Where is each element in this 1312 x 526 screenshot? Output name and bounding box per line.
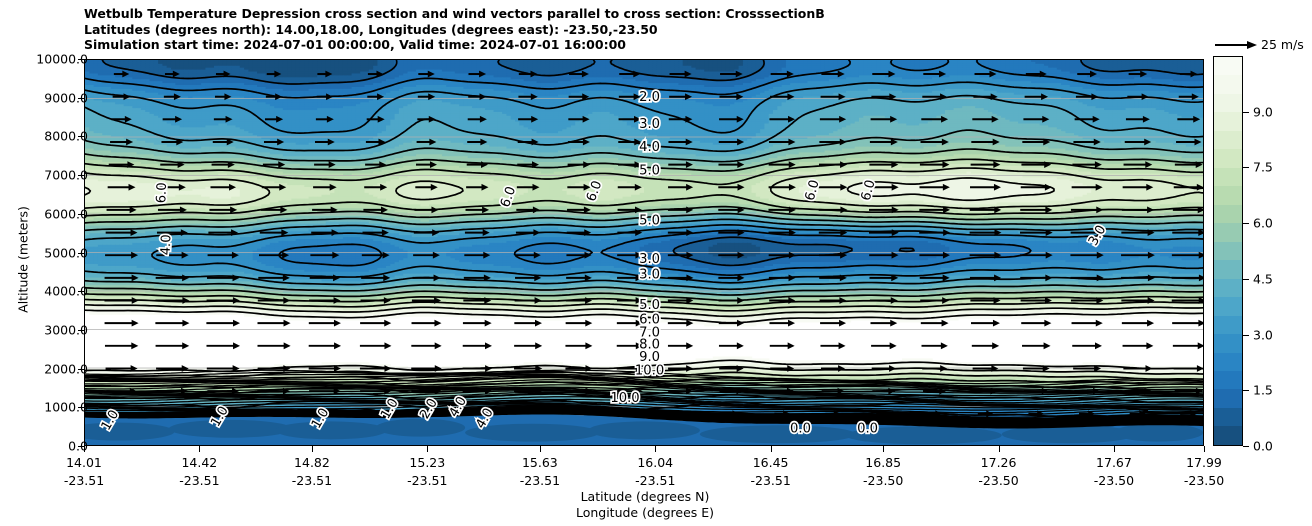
colorbar-band: [1214, 260, 1242, 278]
colorbar-band: [1214, 168, 1242, 186]
colorbar-band: [1214, 389, 1242, 407]
colorbar-tick-mark: [1243, 112, 1249, 113]
y-tick-mark: [78, 291, 84, 292]
contour-label: 5.0: [639, 163, 660, 178]
y-tick-mark: [78, 253, 84, 254]
wind-arrow-icon: [1213, 38, 1259, 52]
y-tick-mark: [78, 98, 84, 99]
colorbar-tick-label: 1.5: [1253, 383, 1273, 398]
colorbar-tick-mark: [1243, 223, 1249, 224]
contour-label: 10.0: [635, 363, 664, 378]
x-tick-label-latitude: 17.99: [1186, 455, 1222, 470]
colorbar-band: [1214, 223, 1242, 241]
contour-label: 3.0: [639, 117, 660, 132]
wind-key-label: 25 m/s: [1261, 37, 1304, 52]
x-tick-label-latitude: 14.42: [181, 455, 217, 470]
x-tick-mark: [771, 446, 772, 452]
y-axis-label: Altitude (meters): [16, 175, 31, 345]
y-tick-mark: [78, 330, 84, 331]
colorbar-gradient: [1213, 56, 1243, 446]
colorbar-band: [1214, 242, 1242, 260]
colorbar-tick-label: 6.0: [1253, 216, 1273, 231]
colorbar-tick-label: 7.5: [1253, 160, 1273, 175]
plot-title: Wetbulb Temperature Depression cross sec…: [84, 6, 1084, 53]
colorbar-band: [1214, 297, 1242, 315]
contour-label: 3.0: [639, 267, 660, 282]
x-tick-label-longitude: -23.51: [750, 473, 790, 488]
contour-label: 4.0: [159, 234, 175, 255]
y-tick-mark: [78, 214, 84, 215]
x-tick-label-latitude: 14.01: [66, 455, 102, 470]
x-tick-label-latitude: 16.45: [753, 455, 789, 470]
colorbar-band: [1214, 94, 1242, 112]
y-tick-mark: [78, 407, 84, 408]
colorbar[interactable]: [1213, 56, 1243, 446]
colorbar-tick-label: 0.0: [1253, 439, 1273, 454]
colorbar-band: [1214, 279, 1242, 297]
colorbar-band: [1214, 75, 1242, 93]
colorbar-tick-label: 3.0: [1253, 327, 1273, 342]
x-tick-mark: [1114, 446, 1115, 452]
x-tick-mark: [655, 446, 656, 452]
x-tick-label-longitude: -23.51: [64, 473, 104, 488]
colorbar-tick-mark: [1243, 279, 1249, 280]
contour-label: 3.0: [639, 252, 660, 267]
x-tick-mark: [199, 446, 200, 452]
colorbar-band: [1214, 149, 1242, 167]
x-tick-label-latitude: 17.26: [981, 455, 1017, 470]
contour-label: 5.0: [639, 213, 660, 228]
y-tick-mark: [78, 175, 84, 176]
x-tick-label-longitude: -23.50: [978, 473, 1018, 488]
colorbar-band: [1214, 408, 1242, 426]
x-tick-mark: [312, 446, 313, 452]
x-axis-label-latitude: Latitude (degrees N): [0, 489, 1290, 504]
colorbar-band: [1214, 186, 1242, 204]
x-tick-label-longitude: -23.50: [1094, 473, 1134, 488]
colorbar-tick-mark: [1243, 390, 1249, 391]
colorbar-tick-mark: [1243, 167, 1249, 168]
colorbar-band: [1214, 205, 1242, 223]
colorbar-band: [1214, 112, 1242, 130]
contour-label: 5.0: [639, 298, 660, 313]
contour-label: 4.0: [639, 140, 660, 155]
colorbar-band: [1214, 426, 1242, 444]
colorbar-tick-label: 9.0: [1253, 104, 1273, 119]
x-tick-label-latitude: 16.85: [865, 455, 901, 470]
x-tick-mark: [540, 446, 541, 452]
y-tick-mark: [78, 136, 84, 137]
x-tick-mark: [1204, 446, 1205, 452]
x-tick-label-longitude: -23.51: [407, 473, 447, 488]
contour-label: 10.0: [610, 391, 639, 406]
colorbar-band: [1214, 131, 1242, 149]
x-tick-mark: [883, 446, 884, 452]
x-tick-label-longitude: -23.51: [292, 473, 332, 488]
x-tick-label-longitude: -23.51: [635, 473, 675, 488]
colorbar-tick-label: 4.5: [1253, 271, 1273, 286]
colorbar-tick-mark: [1243, 446, 1249, 447]
y-tick-mark: [78, 59, 84, 60]
x-axis-label-longitude: Longitude (degrees E): [0, 505, 1290, 520]
x-tick-mark: [427, 446, 428, 452]
colorbar-band: [1214, 353, 1242, 371]
contour-label: 0.0: [790, 421, 811, 436]
x-tick-label-latitude: 15.63: [522, 455, 558, 470]
x-tick-label-longitude: -23.50: [863, 473, 903, 488]
contour-label: 6.0: [154, 182, 170, 203]
colorbar-band: [1214, 316, 1242, 334]
colorbar-band: [1214, 57, 1242, 75]
colorbar-tick-mark: [1243, 335, 1249, 336]
cross-section-plot[interactable]: 2.03.04.05.05.03.03.05.06.07.08.09.010.0…: [84, 59, 1204, 446]
colorbar-band: [1214, 371, 1242, 389]
plot-canvas: 2.03.04.05.05.03.03.05.06.07.08.09.010.0…: [85, 60, 1203, 445]
x-tick-label-longitude: -23.51: [179, 473, 219, 488]
x-tick-label-longitude: -23.50: [1184, 473, 1224, 488]
wind-vector-key: 25 m/s: [1213, 36, 1312, 56]
contour-label: 2.0: [639, 90, 660, 105]
title-line-3: Simulation start time: 2024-07-01 00:00:…: [84, 37, 1084, 53]
x-tick-label-latitude: 17.67: [1096, 455, 1132, 470]
x-tick-label-longitude: -23.51: [520, 473, 560, 488]
title-line-2: Latitudes (degrees north): 14.00,18.00, …: [84, 22, 1084, 38]
title-line-1: Wetbulb Temperature Depression cross sec…: [84, 6, 1084, 22]
x-tick-mark: [999, 446, 1000, 452]
x-tick-label-latitude: 16.04: [637, 455, 673, 470]
contour-label: 0.0: [857, 421, 878, 436]
x-tick-label-latitude: 15.23: [409, 455, 445, 470]
y-tick-mark: [78, 369, 84, 370]
colorbar-band: [1214, 334, 1242, 352]
x-tick-mark: [84, 446, 85, 452]
x-tick-label-latitude: 14.82: [294, 455, 330, 470]
